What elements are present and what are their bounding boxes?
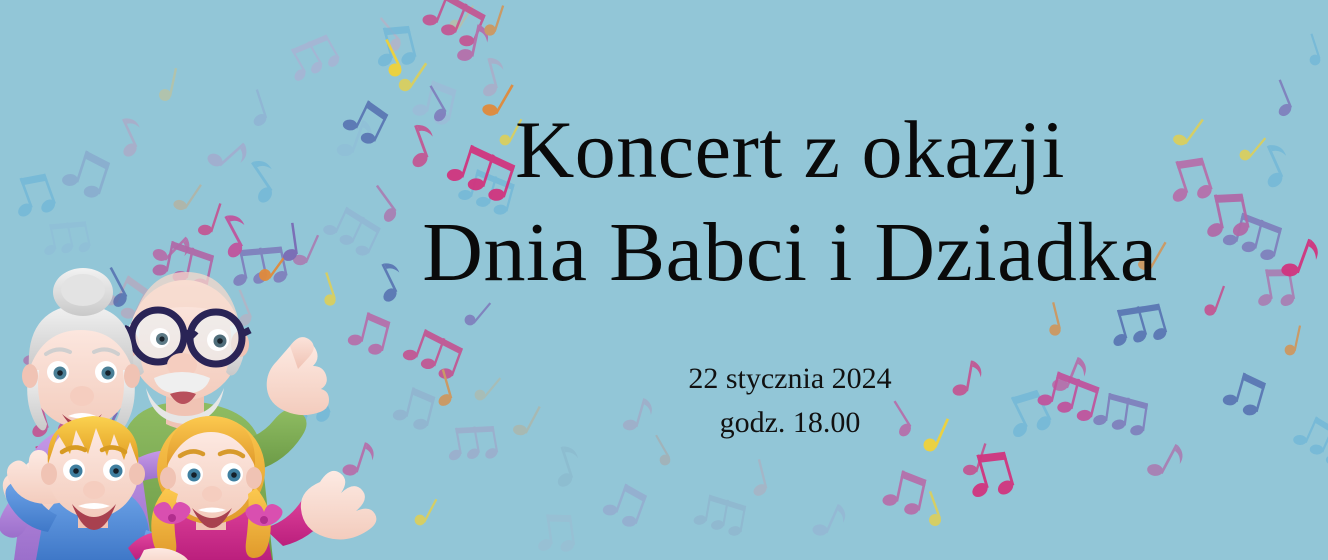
event-details: 22 stycznia 2024 godz. 18.00	[380, 357, 1200, 444]
headline-line-1: Koncert z okazji	[380, 96, 1200, 204]
grandfather-thumbs-up-hand	[267, 337, 329, 415]
headline-line-2: Dnia Babci i Dziadka	[380, 198, 1200, 309]
poster-text-block: Koncert z okazji Dnia Babci i Dziadka 22…	[380, 96, 1200, 444]
girl-open-hand	[301, 471, 377, 540]
poster-canvas: Koncert z okazji Dnia Babci i Dziadka 22…	[0, 0, 1328, 560]
family-illustration	[0, 220, 394, 560]
event-date: 22 stycznia 2024	[688, 362, 891, 395]
event-time: godz. 18.00	[380, 401, 1200, 445]
